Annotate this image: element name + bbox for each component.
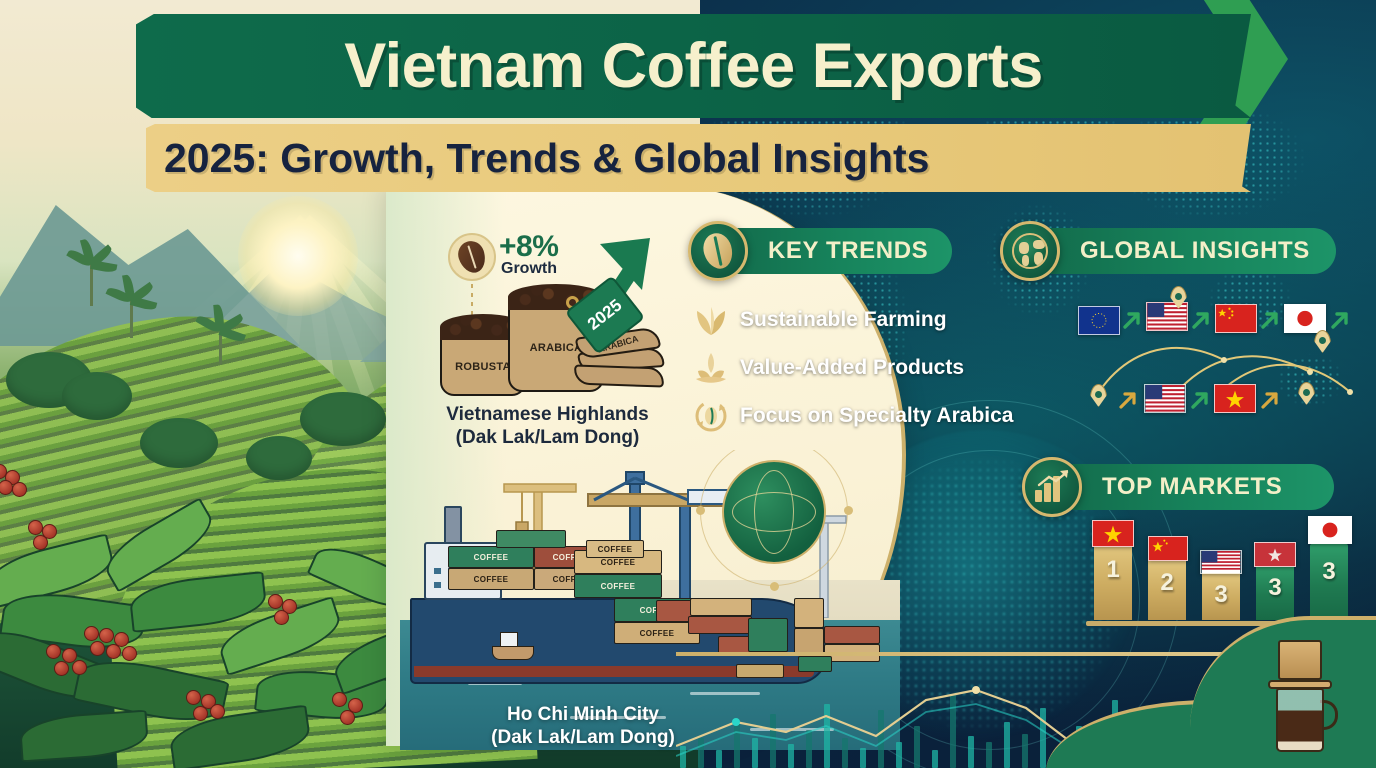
- market-rank: 3: [1310, 558, 1348, 586]
- growth-percentage: +8%: [499, 230, 558, 264]
- highlands-caption: Vietnamese Highlands (Dak Lak/Lam Dong): [415, 403, 680, 449]
- shipping-container: COFFEE: [448, 568, 534, 590]
- section-key-trends[interactable]: KEY TRENDS: [710, 228, 952, 274]
- market-bar[interactable]: 3: [1202, 572, 1240, 620]
- globe-icon: [1000, 221, 1060, 281]
- market-bar[interactable]: 3: [1310, 544, 1348, 620]
- year-tag-label: 2025: [584, 295, 626, 334]
- market-rank: 3: [1256, 574, 1294, 602]
- globe-network-icon: [722, 460, 826, 564]
- trend-label: Focus on Specialty Arabica: [740, 404, 1013, 428]
- up-arrow-icon: [1260, 310, 1280, 330]
- global-market-flags: [1060, 300, 1376, 430]
- section-key-trends-label: KEY TRENDS: [768, 237, 928, 265]
- highlands-caption-line1: Vietnamese Highlands: [415, 403, 680, 426]
- market-rank: 1: [1094, 556, 1132, 584]
- ship-mast: [444, 506, 462, 544]
- trend-item[interactable]: Sustainable Farming: [692, 296, 1112, 344]
- up-arrow-icon: [1260, 390, 1280, 410]
- tugboat: [492, 646, 534, 660]
- sunrise-icon: [238, 196, 358, 316]
- market-bar[interactable]: 3: [1256, 564, 1294, 620]
- section-top-markets[interactable]: TOP MARKETS: [1044, 464, 1334, 510]
- leaf-sprout-icon: [692, 301, 730, 339]
- trend-label: Sustainable Farming: [740, 308, 947, 332]
- container-label: COFFEE: [575, 575, 661, 597]
- subtitle-banner: 2025: Growth, Trends & Global Insights: [146, 124, 1251, 192]
- page-title: Vietnam Coffee Exports: [344, 30, 1043, 102]
- up-arrow-icon: [1191, 310, 1211, 330]
- section-top-markets-label: TOP MARKETS: [1102, 473, 1282, 501]
- up-arrow-icon: [1118, 390, 1138, 410]
- yard-container: [824, 626, 880, 644]
- title-banner: Vietnam Coffee Exports: [136, 14, 1251, 118]
- section-global-insights[interactable]: GLOBAL INSIGHTS: [1022, 228, 1336, 274]
- coffee-bean-icon: [688, 221, 748, 281]
- yard-container: [794, 598, 824, 628]
- market-bar[interactable]: 1: [1094, 542, 1132, 620]
- market-rank: 2: [1148, 569, 1186, 597]
- page-subtitle: 2025: Growth, Trends & Global Insights: [164, 135, 929, 182]
- flag-eu-icon: [1078, 306, 1120, 335]
- wheat-grain-icon: [692, 349, 730, 387]
- flag-us-icon: [1146, 302, 1188, 331]
- up-arrow-icon: [1330, 310, 1350, 330]
- bar-chart-growth-icon: [1022, 457, 1082, 517]
- yard-container: [690, 598, 752, 616]
- shipping-container: COFFEE: [574, 574, 662, 598]
- up-arrow-icon: [1190, 390, 1210, 410]
- coffee-bean-badge: [448, 233, 496, 281]
- flag-vn-icon: [1214, 384, 1256, 413]
- key-trends-list: Sustainable Farming Value-Added Products: [692, 296, 1112, 440]
- coffee-plant-foliage: [0, 428, 450, 768]
- container-label: COFFEE: [587, 541, 643, 557]
- tugboat-cabin: [500, 632, 518, 647]
- recycle-bean-icon: [692, 397, 730, 435]
- trend-item[interactable]: Value-Added Products: [692, 344, 1112, 392]
- section-global-insights-label: GLOBAL INSIGHTS: [1080, 237, 1310, 265]
- coffee-bean-icon: [455, 238, 490, 276]
- growth-label: Growth: [501, 260, 557, 278]
- yard-container: [688, 616, 752, 634]
- flag-us-icon: [1144, 384, 1186, 413]
- yard-container: [748, 618, 788, 652]
- highlands-caption-line2: (Dak Lak/Lam Dong): [415, 426, 680, 449]
- trend-item[interactable]: Focus on Specialty Arabica: [692, 392, 1112, 440]
- flag-jp-icon: [1308, 516, 1352, 544]
- shipping-container: COFFEE: [586, 540, 644, 558]
- flag-us-icon: [1200, 550, 1242, 574]
- trend-label: Value-Added Products: [740, 356, 964, 380]
- infographic-poster: +8% Growth ROBUSTA ARABICA ARABICA 2025 …: [0, 0, 1376, 768]
- market-bar[interactable]: 2: [1148, 558, 1186, 620]
- top-markets-chart: 1 2 3 3: [1086, 528, 1356, 628]
- container-label: COFFEE: [615, 623, 699, 643]
- flag-cn-icon: [1215, 304, 1257, 333]
- up-arrow-icon: [1122, 310, 1142, 330]
- arabica-pack: [574, 364, 665, 387]
- flag-vn-icon: [1254, 542, 1296, 567]
- shipping-container: [496, 530, 566, 548]
- flag-cn-icon: [1148, 536, 1188, 561]
- flag-jp-icon: [1284, 304, 1326, 333]
- vietnamese-phin-coffee-icon: [1262, 640, 1338, 758]
- container-label: COFFEE: [449, 547, 533, 567]
- shipping-container: COFFEE: [448, 546, 534, 568]
- flag-vn-icon: [1092, 520, 1134, 547]
- container-label: COFFEE: [449, 569, 533, 589]
- market-rank: 3: [1202, 581, 1240, 609]
